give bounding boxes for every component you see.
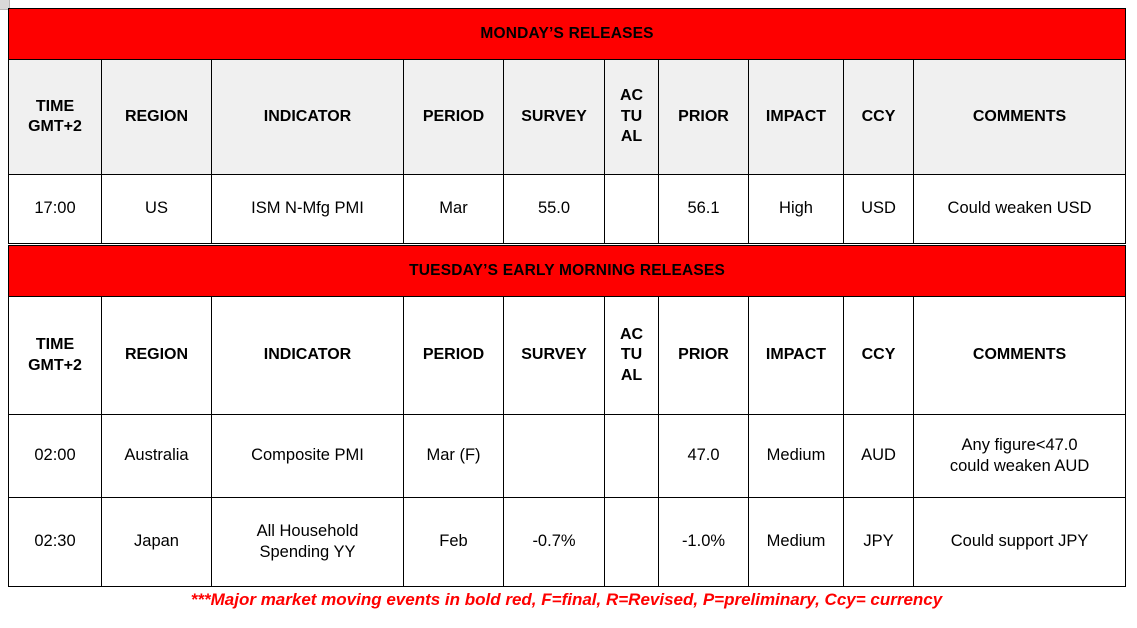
column-header-actual: AC TU AL xyxy=(605,60,659,175)
cell-region: US xyxy=(102,175,212,244)
column-header-actual-line3: AL xyxy=(621,128,642,145)
table-row: 02:00 Australia Composite PMI Mar (F) 47… xyxy=(9,415,1126,498)
column-header-ccy: CCY xyxy=(844,60,914,175)
cell-impact: High xyxy=(749,175,844,244)
column-header-survey: SURVEY xyxy=(504,60,605,175)
tuesday-releases-table: TUESDAY’S EARLY MORNING RELEASES TIME GM… xyxy=(8,245,1126,587)
column-header-prior: PRIOR xyxy=(659,60,749,175)
cell-region: Japan xyxy=(102,498,212,587)
tuesday-header-row: TIME GMT+2 REGION INDICATOR PERIOD SURVE… xyxy=(9,297,1126,415)
column-header-actual-line1: AC xyxy=(620,326,643,343)
cell-region: Australia xyxy=(102,415,212,498)
cell-survey: 55.0 xyxy=(504,175,605,244)
cell-prior: -1.0% xyxy=(659,498,749,587)
column-header-survey: SURVEY xyxy=(504,297,605,415)
cell-impact: Medium xyxy=(749,415,844,498)
cell-actual xyxy=(605,498,659,587)
column-header-time-label: TIME xyxy=(36,336,74,353)
column-header-impact: IMPACT xyxy=(749,60,844,175)
cell-survey xyxy=(504,415,605,498)
cell-comments-line2: could weaken AUD xyxy=(950,457,1089,475)
legend-footnote: ***Major market moving events in bold re… xyxy=(8,590,1125,610)
cell-period: Feb xyxy=(404,498,504,587)
tuesday-banner-row: TUESDAY’S EARLY MORNING RELEASES xyxy=(9,246,1126,297)
column-header-period: PERIOD xyxy=(404,60,504,175)
cell-comments: Any figure<47.0 could weaken AUD xyxy=(914,415,1126,498)
cell-comments: Could weaken USD xyxy=(914,175,1126,244)
column-header-timezone-label: GMT+2 xyxy=(28,118,82,135)
column-header-indicator: INDICATOR xyxy=(212,60,404,175)
column-header-impact: IMPACT xyxy=(749,297,844,415)
column-header-region: REGION xyxy=(102,297,212,415)
column-header-actual-line2: TU xyxy=(621,108,642,125)
column-header-actual-line2: TU xyxy=(621,346,642,363)
releases-sheet: MONDAY’S RELEASES TIME GMT+2 REGION INDI… xyxy=(8,8,1125,587)
cell-impact: Medium xyxy=(749,498,844,587)
column-header-indicator: INDICATOR xyxy=(212,297,404,415)
cell-period: Mar xyxy=(404,175,504,244)
cell-ccy: USD xyxy=(844,175,914,244)
column-header-time-label: TIME xyxy=(36,98,74,115)
cell-time: 17:00 xyxy=(9,175,102,244)
cell-indicator-line1: All Household xyxy=(257,522,359,540)
monday-section-banner: MONDAY’S RELEASES xyxy=(9,9,1126,60)
cell-actual xyxy=(605,415,659,498)
column-header-prior: PRIOR xyxy=(659,297,749,415)
column-header-actual-line3: AL xyxy=(621,367,642,384)
cell-time: 02:00 xyxy=(9,415,102,498)
cell-survey: -0.7% xyxy=(504,498,605,587)
cell-ccy: AUD xyxy=(844,415,914,498)
column-header-actual: AC TU AL xyxy=(605,297,659,415)
column-header-ccy: CCY xyxy=(844,297,914,415)
column-header-comments: COMMENTS xyxy=(914,297,1126,415)
cell-period: Mar (F) xyxy=(404,415,504,498)
monday-banner-row: MONDAY’S RELEASES xyxy=(9,9,1126,60)
cell-time: 02:30 xyxy=(9,498,102,587)
monday-header-row: TIME GMT+2 REGION INDICATOR PERIOD SURVE… xyxy=(9,60,1126,175)
column-header-time: TIME GMT+2 xyxy=(9,60,102,175)
table-row: 17:00 US ISM N-Mfg PMI Mar 55.0 56.1 Hig… xyxy=(9,175,1126,244)
economic-calendar-page: MONDAY’S RELEASES TIME GMT+2 REGION INDI… xyxy=(0,0,1137,628)
cell-indicator: ISM N-Mfg PMI xyxy=(212,175,404,244)
table-row: 02:30 Japan All Household Spending YY Fe… xyxy=(9,498,1126,587)
cell-comments-line1: Any figure<47.0 xyxy=(962,436,1078,454)
cell-actual xyxy=(605,175,659,244)
cell-indicator: All Household Spending YY xyxy=(212,498,404,587)
cell-indicator-line2: Spending YY xyxy=(259,543,355,561)
tuesday-section-banner: TUESDAY’S EARLY MORNING RELEASES xyxy=(9,246,1126,297)
cell-comments: Could support JPY xyxy=(914,498,1126,587)
column-header-time: TIME GMT+2 xyxy=(9,297,102,415)
cell-indicator: Composite PMI xyxy=(212,415,404,498)
column-header-period: PERIOD xyxy=(404,297,504,415)
cell-prior: 56.1 xyxy=(659,175,749,244)
column-header-timezone-label: GMT+2 xyxy=(28,357,82,374)
column-header-region: REGION xyxy=(102,60,212,175)
cell-prior: 47.0 xyxy=(659,415,749,498)
column-header-actual-line1: AC xyxy=(620,87,643,104)
cell-ccy: JPY xyxy=(844,498,914,587)
monday-releases-table: MONDAY’S RELEASES TIME GMT+2 REGION INDI… xyxy=(8,8,1126,244)
column-header-comments: COMMENTS xyxy=(914,60,1126,175)
